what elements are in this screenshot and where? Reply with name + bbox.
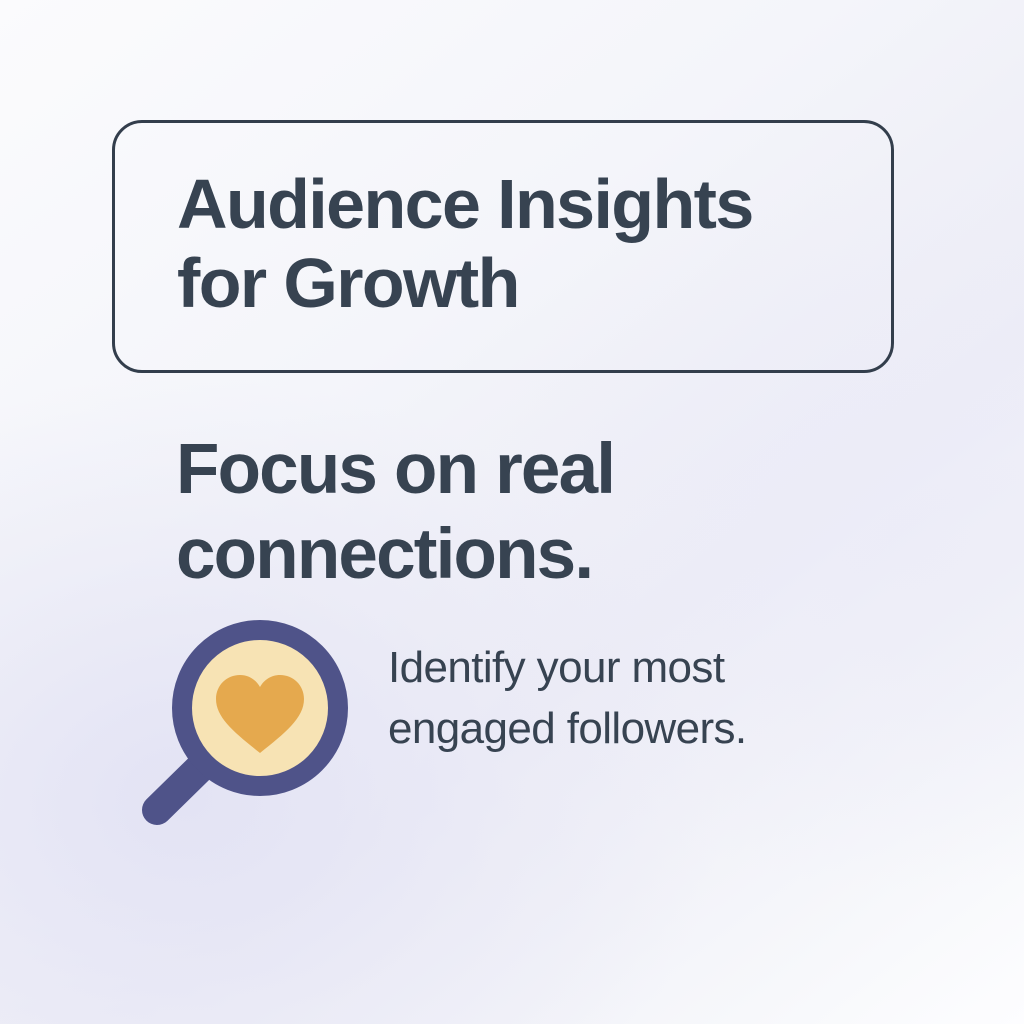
feature-caption: Identify your most engaged followers. [388,638,888,759]
feature-row: Identify your most engaged followers. [140,612,900,827]
title-card-heading: Audience Insights for Growth [177,165,851,323]
poster-canvas: Audience Insights for Growth Focus on re… [0,0,1024,1024]
magnifier-heart-icon [140,612,362,827]
title-card: Audience Insights for Growth [112,120,894,373]
headline: Focus on real connections. [176,427,876,597]
